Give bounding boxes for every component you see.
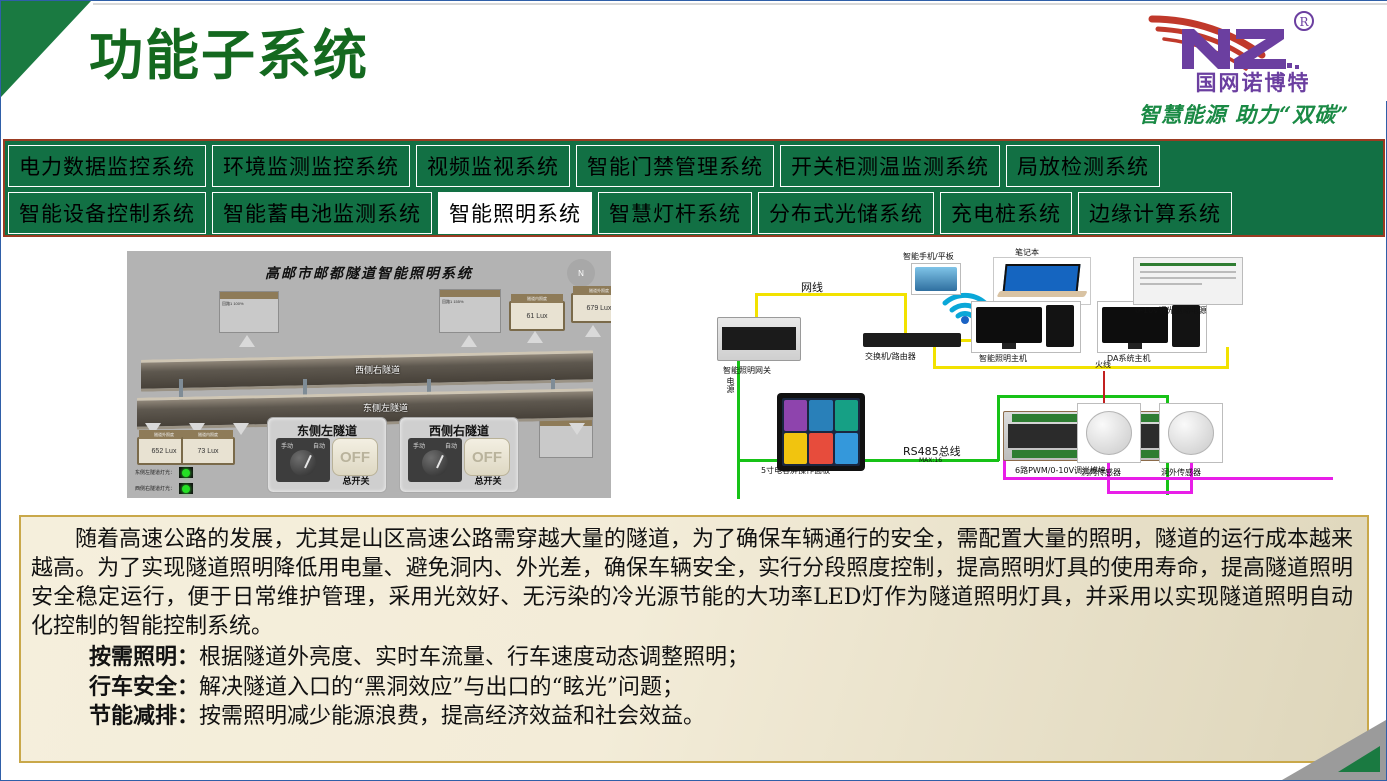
dimming-driver-power-supply (1133, 257, 1243, 305)
mode-manual-label-west: 手动 (413, 441, 425, 450)
label-ethernet-1: 网线 (801, 279, 823, 295)
compass-icon: N (567, 259, 595, 287)
master-switch-button-west[interactable]: OFF (464, 438, 510, 476)
label-da-host: DA系统主机 (1107, 353, 1151, 364)
status-label-east: 东侧左隧道灯光： (135, 469, 175, 476)
indoor-sensor-disc (1086, 411, 1133, 455)
smart-phone-tablet-device (911, 263, 961, 295)
mode-manual-label-east: 手动 (281, 441, 293, 450)
label-gateway: 智能照明网关 (723, 365, 771, 376)
laptop-base (996, 291, 1088, 297)
description-panel: 随着高速公路的发展，尤其是山区高速公路需穿越大量的隧道，为了确保车辆通行的安全，… (19, 515, 1369, 763)
bullet-driving-safety: 行车安全：解决隧道入口的“黑洞效应”与出口的“眩光”问题； (89, 673, 1353, 703)
tab-partial-discharge[interactable]: 局放检测系统 (1006, 145, 1160, 187)
tab-power-data-monitoring[interactable]: 电力数据监控系统 (8, 145, 206, 187)
arrow-down-icon-4 (569, 423, 585, 435)
bullet-3-sep: ： (177, 703, 199, 729)
master-switch-button-east[interactable]: OFF (332, 438, 378, 476)
bullet-3-text: 按需照明减少能源浪费，提高经济效益和社会效益。 (199, 704, 705, 729)
bullet-2-sep: ： (177, 674, 199, 700)
lux-display-outside-top: 隧道外照度 679 Lux (571, 293, 611, 323)
tunnel-road-west-label: 西侧右隧道 (355, 363, 400, 376)
capacitive-touch-panel[interactable] (777, 393, 865, 471)
description-paragraph: 随着高速公路的发展，尤其是山区高速公路需穿越大量的隧道，为了确保车辆通行的安全，… (31, 525, 1353, 641)
sensor-bus (1107, 491, 1193, 494)
label-phone-tablet: 智能手机/平板 (903, 251, 954, 262)
tab-row-2: 智能设备控制系统 智能蓄电池监测系统 智能照明系统 智慧灯杆系统 分布式光储系统… (8, 192, 1380, 234)
slide-header: 功能子系统 R 国网诺博特 智慧能源 助力“双碳” (1, 1, 1387, 101)
lux-display-outside-top-caption: 隧道外照度 (573, 286, 611, 295)
arrow-up-icon-4 (585, 325, 601, 337)
ethernet-wire-segment-1 (755, 293, 758, 319)
label-laptop: 笔记本 (1015, 247, 1039, 258)
bullet-on-demand-lighting: 按需照明：根据隧道外亮度、实时车流量、行车速度动态调整照明； (89, 643, 1353, 673)
control-panel-east-left-tunnel[interactable]: 东侧左隧道 手动 自动 OFF 总开关 (267, 417, 387, 493)
smart-lighting-gateway (717, 317, 801, 361)
tab-smart-device-control[interactable]: 智能设备控制系统 (8, 192, 206, 234)
tab-distributed-pv-storage[interactable]: 分布式光储系统 (758, 192, 934, 234)
arrow-up-icon-1 (239, 335, 255, 347)
lux-display-outside-bottom-value: 652 Lux (152, 448, 177, 455)
touch-panel-screen (782, 398, 860, 466)
outdoor-sensor (1159, 403, 1223, 463)
company-logo: R 国网诺博特 智慧能源 助力“双碳” (1124, 5, 1374, 127)
ethernet-wire-segment-3 (904, 293, 907, 337)
ethernet-wire-segment-2 (755, 293, 907, 296)
media-row: 高邮市邮都隧道智能照明系统 N 回路1 100% 回路1 155% 隧 (3, 241, 1385, 509)
bullet-energy-saving: 节能减排：按需照明减少能源浪费，提高经济效益和社会效益。 (89, 702, 1353, 732)
tab-environment-monitoring[interactable]: 环境监测监控系统 (212, 145, 410, 187)
label-outdoor-sensor: 洞外传感器 (1161, 467, 1201, 478)
lux-display-outside-top-value: 679 Lux (587, 305, 611, 312)
smart-lighting-host-pc (971, 301, 1081, 353)
corner-triangle-decoration (1, 1, 91, 97)
slide-root: 功能子系统 R 国网诺博特 智慧能源 助力“双碳” 电力数据监控系统 环境监测监… (0, 0, 1387, 781)
rs485-wire-module-riser (997, 395, 1000, 461)
svg-text:R: R (1299, 15, 1309, 29)
laptop-device (993, 257, 1091, 305)
dimming-group-2: 回路1 155% (439, 289, 501, 333)
label-rs485-max: MAX:16 (919, 457, 942, 464)
control-panel-east-title: 东侧左隧道 (268, 422, 386, 439)
label-lighting-host: 智能照明主机 (979, 353, 1027, 364)
indoor-sensor (1077, 403, 1141, 463)
status-label-west: 西侧右隧道灯光： (135, 485, 175, 492)
bullet-1-sep: ： (177, 644, 199, 670)
lux-display-inside-bottom: 隧道内照度 73 Lux (181, 437, 235, 465)
master-switch-caption-east: 总开关 (334, 474, 378, 487)
master-switch-caption-west: 总开关 (466, 474, 510, 487)
control-panel-west-right-tunnel[interactable]: 西侧右隧道 手动 自动 OFF 总开关 (399, 417, 519, 493)
mode-auto-label-east: 自动 (313, 441, 325, 450)
tab-smart-lighting[interactable]: 智能照明系统 (438, 192, 592, 234)
status-led-east-icon (179, 467, 193, 478)
rotary-knob-east[interactable] (290, 450, 316, 476)
label-switch-router: 交换机/路由器 (865, 351, 916, 362)
network-switch-router (863, 333, 961, 347)
logo-tagline: 智慧能源 助力“双碳” (1110, 99, 1378, 129)
outdoor-sensor-disc (1168, 411, 1215, 455)
gateway-screen (722, 327, 796, 350)
scada-title: 高邮市邮都隧道智能照明系统 (127, 263, 611, 283)
host-pc-monitor-1 (976, 307, 1042, 343)
bullet-2-label: 行车安全 (89, 674, 177, 700)
tab-charging-pile[interactable]: 充电桩系统 (940, 192, 1072, 234)
tab-smart-access-control[interactable]: 智能门禁管理系统 (576, 145, 774, 187)
tab-edge-computing[interactable]: 边缘计算系统 (1078, 192, 1232, 234)
arrow-down-icon-3 (233, 423, 249, 435)
rs485-wire-top (997, 395, 1169, 398)
tunnel-road-east-label: 东侧左隧道 (363, 401, 408, 414)
label-indoor-sensor: 洞内传感器 (1081, 467, 1121, 478)
lux-display-inside-top: 隧道内照度 61 Lux (509, 301, 565, 331)
page-title: 功能子系统 (89, 11, 369, 90)
dimming-group-2-rows: 回路1 155% (440, 297, 500, 306)
dimming-group-1-rows: 回路1 100% (220, 299, 278, 308)
label-touch-panel: 5寸电容屏操作面板 (761, 465, 830, 476)
mode-selector-west[interactable]: 手动 自动 (408, 438, 462, 482)
bullet-1-label: 按需照明 (89, 644, 177, 670)
bullet-1-text: 根据隧道外亮度、实时车流量、行车速度动态调整照明； (199, 645, 749, 670)
laptop-screen (1002, 264, 1080, 293)
dimming-group-1: 回路1 100% (219, 291, 279, 333)
arrow-up-icon-3 (527, 331, 543, 343)
bullet-2-text: 解决隧道入口的“黑洞效应”与出口的“眩光”问题； (199, 675, 684, 700)
tunnel-lighting-scada-screenshot: 高邮市邮都隧道智能照明系统 N 回路1 100% 回路1 155% 隧 (127, 251, 611, 498)
dimming-group-2-header (440, 290, 500, 297)
lux-display-inside-bottom-caption: 隧道内照度 (183, 430, 233, 439)
tab-switchgear-temperature[interactable]: 开关柜测温监测系统 (780, 145, 1000, 187)
lux-display-inside-top-value: 61 Lux (526, 313, 547, 320)
tab-smart-lamp-pole[interactable]: 智慧灯杆系统 (598, 192, 752, 234)
label-power: 电源 (725, 377, 736, 393)
arrow-up-icon-2 (461, 335, 477, 347)
host-pc-tower-1 (1046, 305, 1074, 347)
ethernet-wire-segment-7 (1226, 347, 1229, 369)
label-driver-power: 0-10V调光驱动电源 (1135, 305, 1207, 316)
logo-company-name: 国网诺博特 (1168, 67, 1338, 97)
mode-auto-label-west: 自动 (445, 441, 457, 450)
status-row-east: 东侧左隧道灯光： (135, 467, 193, 478)
tab-video-surveillance[interactable]: 视频监视系统 (416, 145, 570, 187)
status-row-west: 西侧右隧道灯光： (135, 483, 193, 494)
tab-battery-monitoring[interactable]: 智能蓄电池监测系统 (212, 192, 432, 234)
lux-display-inside-top-caption: 隧道内照度 (511, 294, 563, 303)
dimming-group-1-header (220, 292, 278, 299)
control-panel-west-title: 西侧右隧道 (400, 422, 518, 439)
ethernet-wire-segment-6 (933, 366, 1229, 369)
status-led-west-icon (179, 483, 193, 494)
rotary-knob-west[interactable] (422, 450, 448, 476)
subsystem-tab-block: 电力数据监控系统 环境监测监控系统 视频监视系统 智能门禁管理系统 开关柜测温监… (3, 139, 1385, 237)
bullet-3-label: 节能减排 (89, 703, 177, 729)
lux-display-inside-bottom-value: 73 Lux (197, 448, 218, 455)
bottom-green-triangle-decoration (1338, 746, 1380, 772)
tab-row-1: 电力数据监控系统 环境监测监控系统 视频监视系统 智能门禁管理系统 开关柜测温监… (8, 145, 1380, 187)
mode-selector-east[interactable]: 手动 自动 (276, 438, 330, 482)
network-topology-diagram: 网线 网线 电源 火线 (703, 247, 1383, 502)
